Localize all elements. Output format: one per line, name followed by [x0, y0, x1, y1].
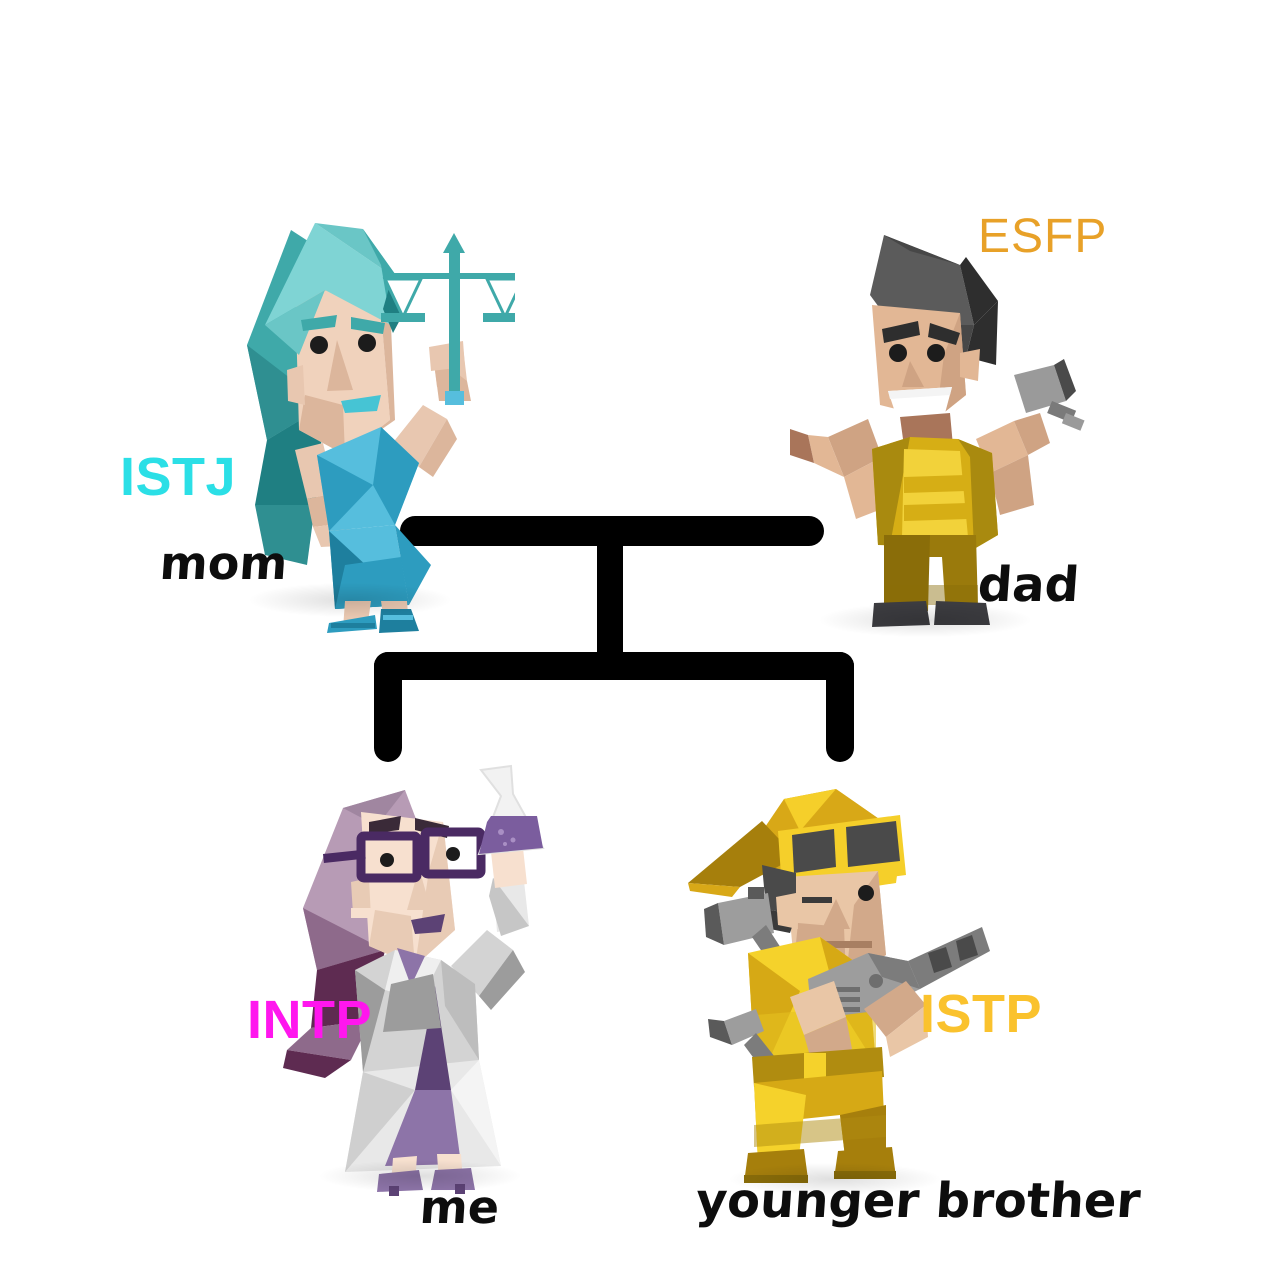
mbti-label-me: INTP: [247, 993, 372, 1047]
name-label-brother: younger brother: [694, 1177, 1142, 1225]
tree-stem-vertical: [597, 530, 623, 670]
family-member-dad[interactable]: ESFP dad: [760, 205, 1100, 645]
brother-illustration: [670, 765, 1030, 1195]
name-label-me: me: [418, 1184, 500, 1230]
mbti-label-mom: ISTJ: [120, 450, 236, 504]
children-connector-bar: [374, 652, 854, 680]
child-drop-left: [374, 652, 402, 762]
child-drop-right: [826, 652, 854, 762]
family-member-me[interactable]: INTP me: [265, 760, 585, 1200]
family-member-younger-brother[interactable]: ISTP younger brother: [670, 765, 1030, 1195]
me-illustration: [265, 760, 585, 1200]
mbti-label-dad: ESFP: [978, 213, 1107, 261]
name-label-mom: mom: [158, 540, 289, 586]
name-label-dad: dad: [976, 561, 1080, 609]
family-tree-canvas: ISTJ mom: [0, 0, 1280, 1280]
family-member-mom[interactable]: ISTJ mom: [195, 205, 515, 635]
mbti-label-brother: ISTP: [920, 987, 1042, 1041]
